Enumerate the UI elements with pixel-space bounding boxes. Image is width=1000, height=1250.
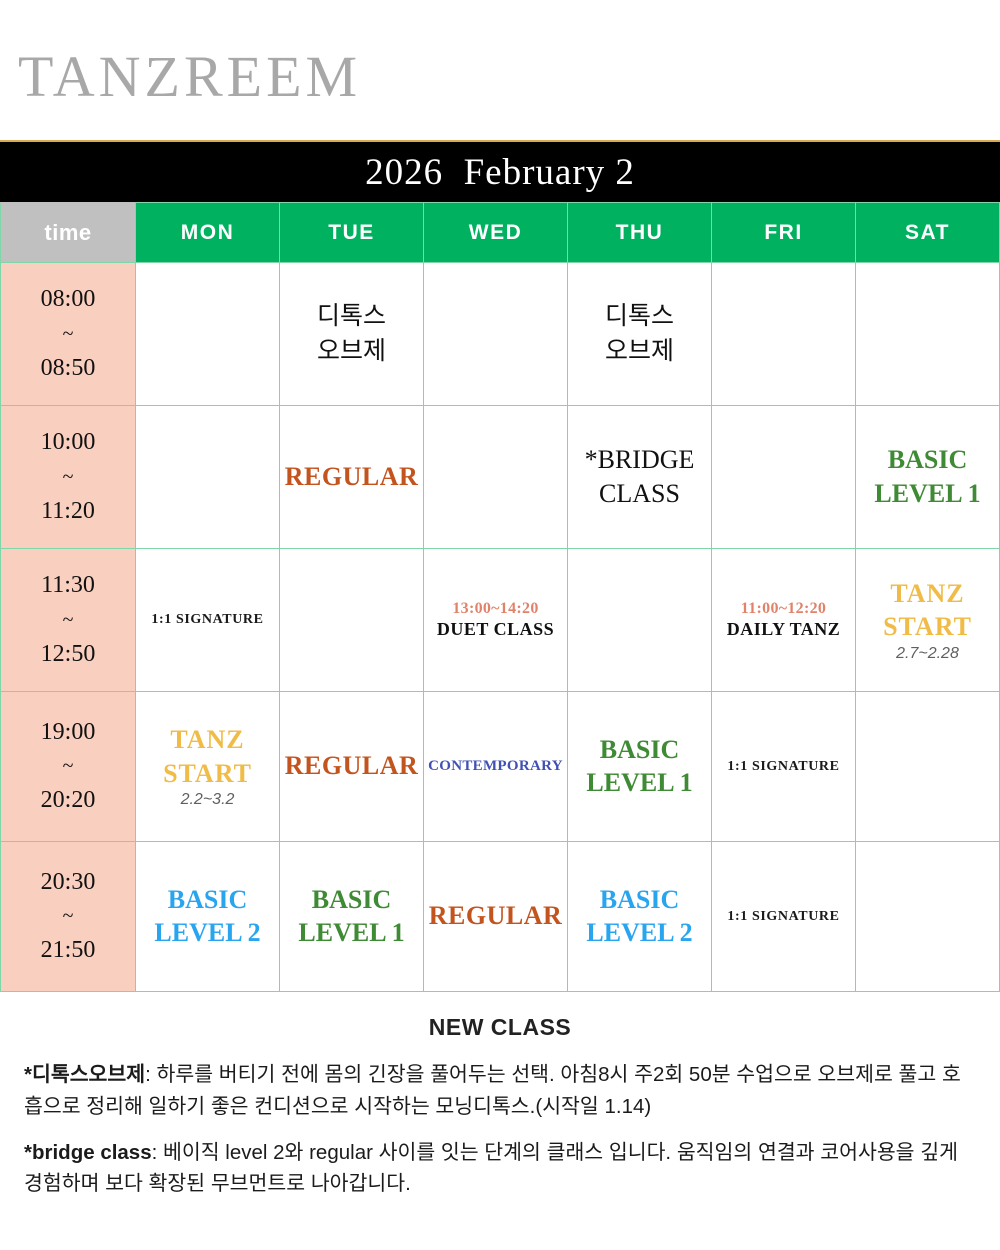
class-cell-sat[interactable]: TANZSTART2.7~2.28 (856, 549, 1000, 692)
class-cell-mon[interactable]: 1:1 SIGNATURE (136, 549, 280, 692)
class-cell-content: CONTEMPORARY (424, 692, 567, 841)
class-label: BASIC (600, 734, 679, 767)
column-header-fri: FRI (712, 203, 856, 263)
class-cell-thu[interactable]: BASICLEVEL 1 (568, 692, 712, 842)
time-start: 19:00 (1, 714, 135, 751)
time-slot-cell: 10:00~11:20 (1, 406, 136, 549)
class-cell-tue (280, 549, 424, 692)
note-detox: *디톡스오브제: 하루를 버티기 전에 몸의 긴장을 풀어두는 선택. 아침8시… (24, 1059, 976, 1123)
class-cell-content (424, 406, 567, 548)
class-cell-tue[interactable]: REGULAR (280, 692, 424, 842)
class-cell-content: BASICLEVEL 1 (856, 406, 999, 548)
class-cell-wed (424, 263, 568, 406)
column-header-mon: MON (136, 203, 280, 263)
class-cell-mon (136, 263, 280, 406)
class-cell-content (136, 406, 279, 548)
class-label: 1:1 SIGNATURE (727, 759, 839, 775)
class-label: DUET CLASS (437, 619, 554, 640)
class-cell-content: BASICLEVEL 1 (568, 692, 711, 841)
class-cell-content: 1:1 SIGNATURE (712, 842, 855, 991)
class-cell-fri[interactable]: 11:00~12:20DAILY TANZ (712, 549, 856, 692)
class-cell-content: BASICLEVEL 2 (568, 842, 711, 991)
class-cell-content (712, 406, 855, 548)
class-label: START (163, 758, 252, 791)
column-header-thu: THU (568, 203, 712, 263)
schedule-row: 20:30~21:50BASICLEVEL 2BASICLEVEL 1REGUL… (1, 842, 1000, 992)
class-label: REGULAR (429, 900, 563, 933)
class-label: 디톡스 (605, 300, 674, 334)
time-separator: ~ (1, 751, 135, 782)
class-cell-content: 11:00~12:20DAILY TANZ (712, 549, 855, 691)
class-cell-wed (424, 406, 568, 549)
table-header-row: time MON TUE WED THU FRI SAT (1, 203, 1000, 263)
class-cell-content: REGULAR (424, 842, 567, 991)
class-cell-thu[interactable]: 디톡스오브제 (568, 263, 712, 406)
class-cell-content (856, 842, 999, 991)
class-cell-content (568, 549, 711, 691)
schedule-row: 08:00~08:50디톡스오브제디톡스오브제 (1, 263, 1000, 406)
column-header-wed: WED (424, 203, 568, 263)
brand-logo: TANZREEM (18, 34, 361, 106)
class-cell-content: TANZSTART2.7~2.28 (856, 549, 999, 691)
time-separator: ~ (1, 605, 135, 636)
class-cell-content (856, 692, 999, 841)
time-start: 10:00 (1, 424, 135, 461)
class-label: REGULAR (285, 461, 419, 494)
class-label: CLASS (599, 478, 680, 511)
class-cell-content: 디톡스오브제 (280, 263, 423, 405)
class-label: CONTEMPORARY (428, 758, 563, 775)
class-label: 1:1 SIGNATURE (151, 612, 263, 628)
class-cell-content (856, 263, 999, 405)
class-cell-tue[interactable]: 디톡스오브제 (280, 263, 424, 406)
note-detox-label: *디톡스오브제 (24, 1063, 145, 1086)
class-label: 2.7~2.28 (896, 645, 959, 663)
class-label: LEVEL 2 (154, 917, 260, 950)
time-end: 21:50 (1, 932, 135, 969)
brand-header: TANZREEM (0, 0, 1000, 140)
class-label: LEVEL 2 (586, 917, 692, 950)
class-cell-fri (712, 406, 856, 549)
time-end: 12:50 (1, 636, 135, 673)
class-cell-content: REGULAR (280, 692, 423, 841)
time-separator: ~ (1, 319, 135, 350)
time-end: 11:20 (1, 493, 135, 530)
schedule-page: TANZREEM 2026 February 2 time MON TUE WE… (0, 0, 1000, 1250)
class-cell-fri[interactable]: 1:1 SIGNATURE (712, 692, 856, 842)
class-label: BASIC (888, 444, 967, 477)
class-label: LEVEL 1 (298, 917, 404, 950)
class-cell-tue[interactable]: REGULAR (280, 406, 424, 549)
class-label: BASIC (600, 884, 679, 917)
time-slot-cell: 19:00~20:20 (1, 692, 136, 842)
class-label: BASIC (168, 884, 247, 917)
class-label: 1:1 SIGNATURE (727, 909, 839, 925)
class-cell-thu[interactable]: BASICLEVEL 2 (568, 842, 712, 992)
class-cell-thu (568, 549, 712, 692)
class-cell-wed[interactable]: 13:00~14:20DUET CLASS (424, 549, 568, 692)
class-cell-fri[interactable]: 1:1 SIGNATURE (712, 842, 856, 992)
class-cell-wed[interactable]: CONTEMPORARY (424, 692, 568, 842)
class-cell-content (424, 263, 567, 405)
class-cell-tue[interactable]: BASICLEVEL 1 (280, 842, 424, 992)
time-slot-cell: 11:30~12:50 (1, 549, 136, 692)
time-separator: ~ (1, 901, 135, 932)
class-cell-sat (856, 263, 1000, 406)
new-class-heading: NEW CLASS (24, 1014, 976, 1041)
class-cell-wed[interactable]: REGULAR (424, 842, 568, 992)
class-label: LEVEL 1 (874, 478, 980, 511)
class-cell-content (712, 263, 855, 405)
schedule-row: 11:30~12:501:1 SIGNATURE13:00~14:20DUET … (1, 549, 1000, 692)
schedule-row: 10:00~11:20REGULAR*BRIDGECLASSBASICLEVEL… (1, 406, 1000, 549)
class-cell-content (280, 549, 423, 691)
class-schedule-table: time MON TUE WED THU FRI SAT 08:00~08:50… (0, 202, 1000, 992)
class-label: 오브제 (605, 335, 674, 369)
time-start: 20:30 (1, 864, 135, 901)
month-title: 2026 February 2 (365, 151, 635, 194)
class-label: REGULAR (285, 750, 419, 783)
column-header-sat: SAT (856, 203, 1000, 263)
note-bridge: *bridge class: 베이직 level 2와 regular 사이를 … (24, 1137, 976, 1201)
class-label: 오브제 (317, 335, 386, 369)
class-cell-mon (136, 406, 280, 549)
class-cell-content (136, 263, 279, 405)
class-cell-sat[interactable]: BASICLEVEL 1 (856, 406, 1000, 549)
time-end: 20:20 (1, 782, 135, 819)
footer-notes: NEW CLASS *디톡스오브제: 하루를 버티기 전에 몸의 긴장을 풀어두… (0, 992, 1000, 1200)
class-cell-content: 디톡스오브제 (568, 263, 711, 405)
time-start: 11:30 (1, 567, 135, 604)
class-label: START (883, 611, 972, 644)
class-cell-sat (856, 842, 1000, 992)
class-label: 13:00~14:20 (452, 600, 538, 618)
class-label: 11:00~12:20 (741, 600, 826, 618)
class-cell-content: BASICLEVEL 2 (136, 842, 279, 991)
class-label: 디톡스 (317, 300, 386, 334)
class-cell-fri (712, 263, 856, 406)
column-header-tue: TUE (280, 203, 424, 263)
time-slot-cell: 08:00~08:50 (1, 263, 136, 406)
month-banner: 2026 February 2 (0, 142, 1000, 202)
class-label: BASIC (312, 884, 391, 917)
class-cell-content: 13:00~14:20DUET CLASS (424, 549, 567, 691)
class-label: 2.2~3.2 (181, 791, 235, 809)
class-cell-thu[interactable]: *BRIDGECLASS (568, 406, 712, 549)
class-cell-content: BASICLEVEL 1 (280, 842, 423, 991)
note-bridge-body: : 베이직 level 2와 regular 사이를 잇는 단계의 클래스 입니… (24, 1141, 958, 1196)
class-label: TANZ (170, 724, 244, 757)
time-separator: ~ (1, 462, 135, 493)
class-cell-sat (856, 692, 1000, 842)
class-label: DAILY TANZ (727, 619, 841, 640)
time-end: 08:50 (1, 350, 135, 387)
column-header-time: time (1, 203, 136, 263)
class-label: *BRIDGE (585, 444, 695, 477)
class-cell-mon[interactable]: TANZSTART2.2~3.2 (136, 692, 280, 842)
class-label: TANZ (890, 578, 964, 611)
class-label: LEVEL 1 (586, 767, 692, 800)
class-cell-content: TANZSTART2.2~3.2 (136, 692, 279, 841)
time-slot-cell: 20:30~21:50 (1, 842, 136, 992)
note-bridge-label: *bridge class (24, 1141, 152, 1164)
class-cell-content: REGULAR (280, 406, 423, 548)
note-detox-body: : 하루를 버티기 전에 몸의 긴장을 풀어두는 선택. 아침8시 주2회 50… (24, 1063, 961, 1118)
class-cell-content: 1:1 SIGNATURE (136, 549, 279, 691)
class-cell-content: 1:1 SIGNATURE (712, 692, 855, 841)
class-cell-content: *BRIDGECLASS (568, 406, 711, 548)
time-start: 08:00 (1, 281, 135, 318)
schedule-row: 19:00~20:20TANZSTART2.2~3.2REGULARCONTEM… (1, 692, 1000, 842)
class-cell-mon[interactable]: BASICLEVEL 2 (136, 842, 280, 992)
